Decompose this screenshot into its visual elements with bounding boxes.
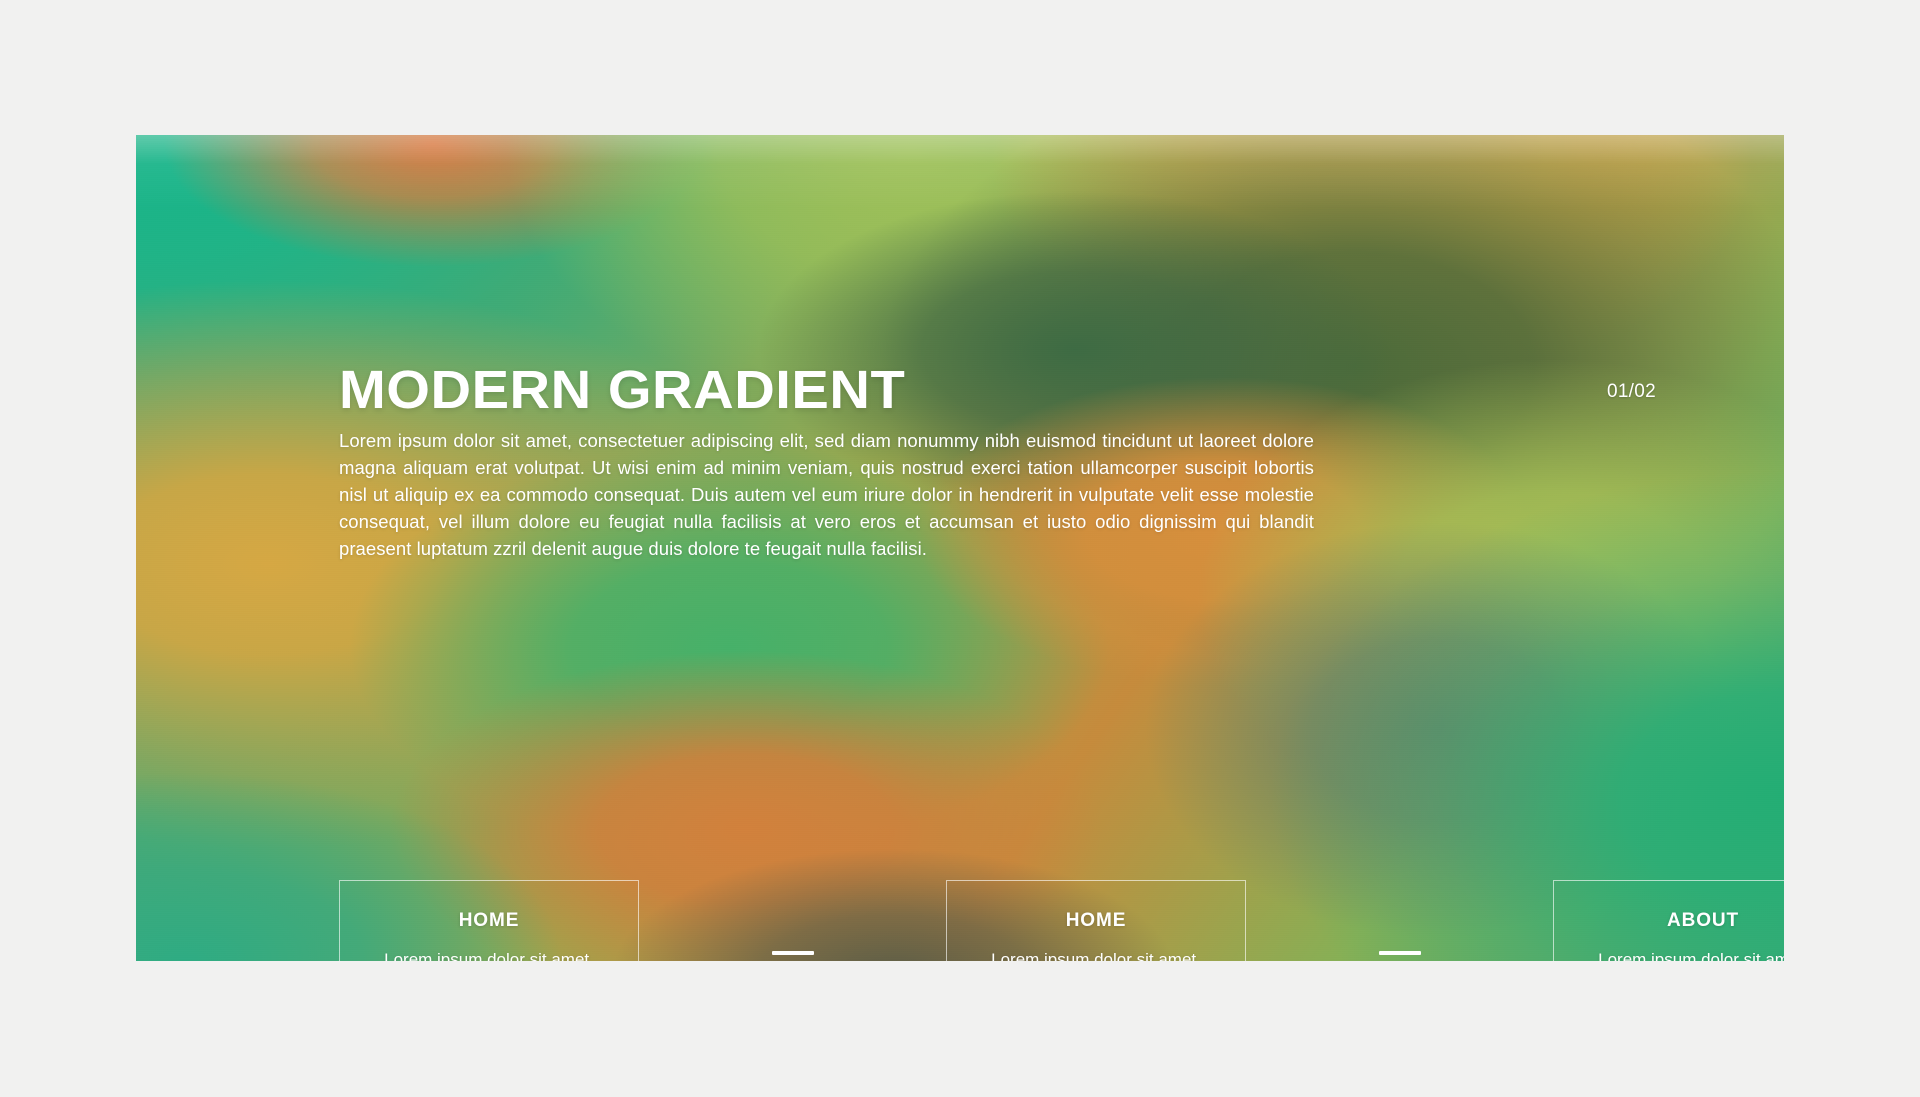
nav-card-description: Lorem ipsum dolor sit amet, consectetuer…: [961, 949, 1231, 961]
nav-card-title: ABOUT: [1667, 910, 1739, 932]
nav-card-description: Lorem ipsum dolor sit amet, consectetuer…: [1568, 949, 1784, 961]
page-indicator: 01/02: [1607, 381, 1656, 403]
nav-card-home-1[interactable]: HOME Lorem ipsum dolor sit amet, consect…: [339, 880, 639, 961]
body-paragraph: Lorem ipsum dolor sit amet, consectetuer…: [339, 427, 1314, 562]
nav-card-description: Lorem ipsum dolor sit amet, consectetuer…: [354, 949, 624, 961]
slide-content: 01/02 MODERN GRADIENT Lorem ipsum dolor …: [136, 135, 1784, 961]
nav-card-title: HOME: [459, 910, 520, 932]
nav-card-about[interactable]: ABOUT Lorem ipsum dolor sit amet, consec…: [1553, 880, 1784, 961]
card-row: HOME Lorem ipsum dolor sit amet, consect…: [339, 880, 1784, 961]
nav-card-title: HOME: [1066, 910, 1127, 932]
page-title: MODERN GRADIENT: [339, 363, 1358, 418]
nav-card-home-2[interactable]: HOME Lorem ipsum dolor sit amet, consect…: [946, 880, 1246, 961]
divider-dash-1: [772, 951, 814, 955]
headline-block: MODERN GRADIENT Lorem ipsum dolor sit am…: [339, 363, 1319, 562]
gradient-hero-canvas: 01/02 MODERN GRADIENT Lorem ipsum dolor …: [136, 135, 1784, 961]
slide-stage: 01/02 MODERN GRADIENT Lorem ipsum dolor …: [0, 0, 1920, 1097]
divider-dash-2: [1379, 951, 1421, 955]
